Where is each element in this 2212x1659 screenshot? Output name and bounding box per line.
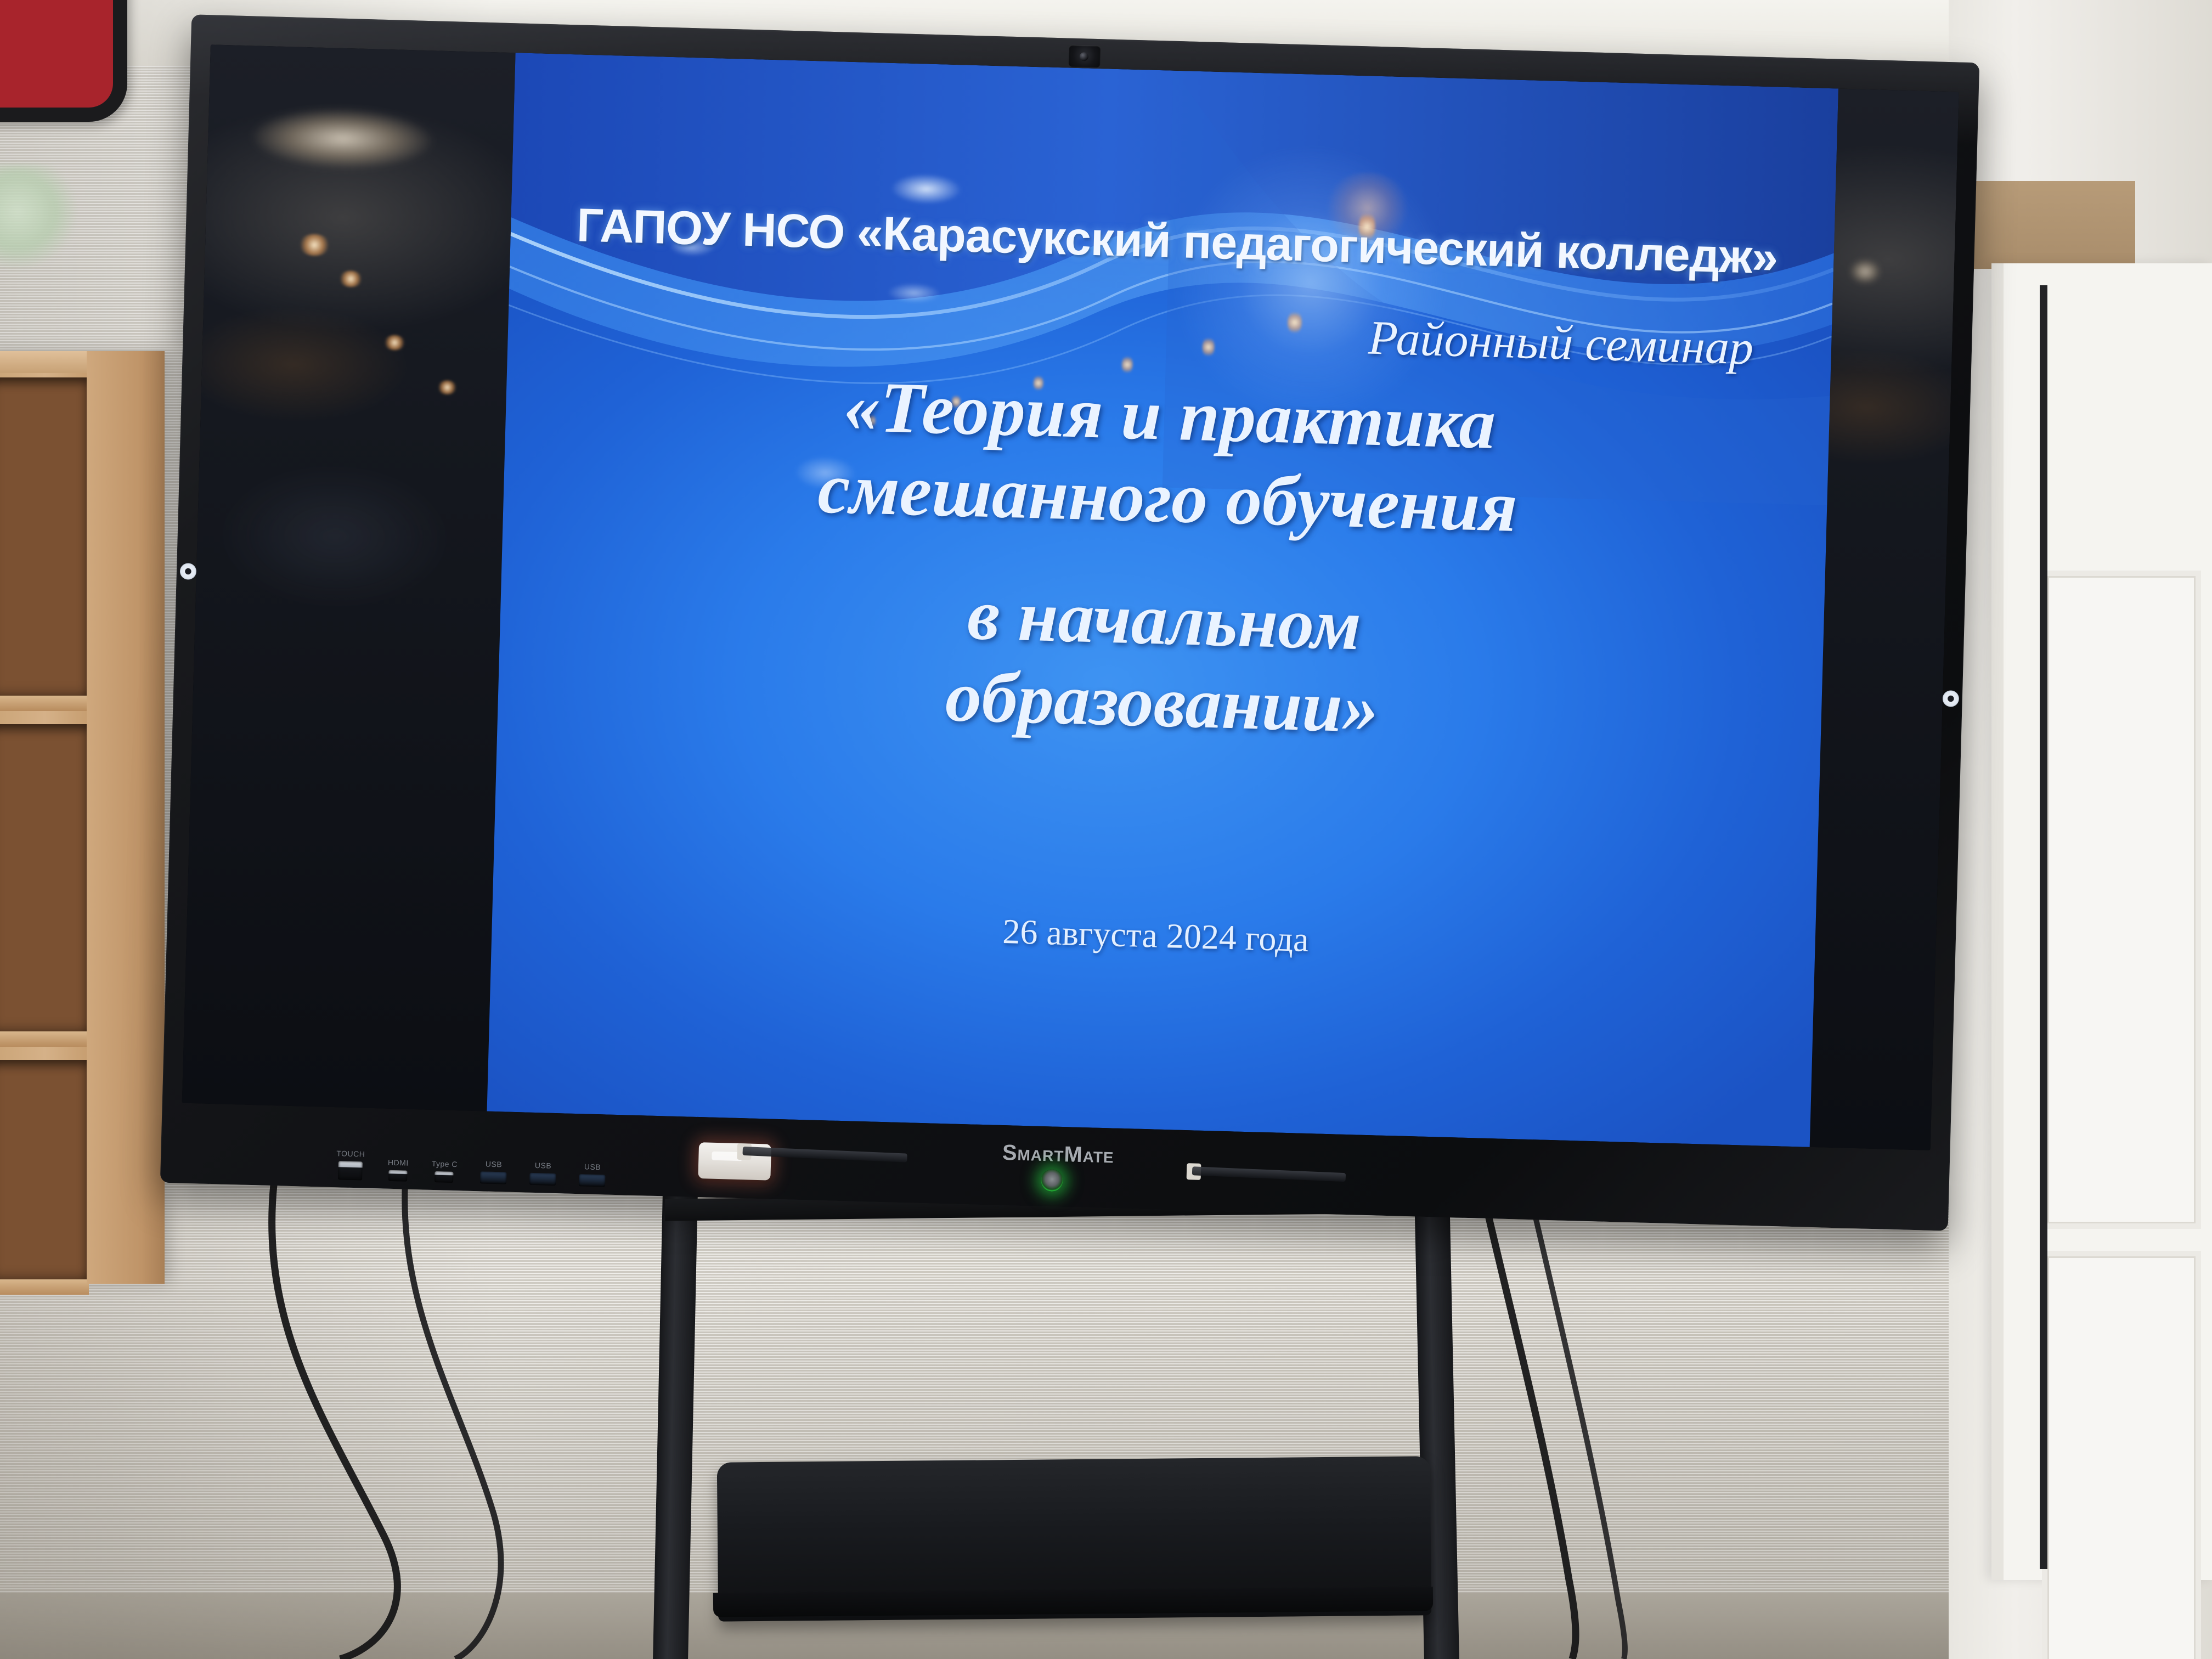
door-lower-panel	[2042, 1251, 2201, 1659]
bookshelf-shelf-edge	[0, 696, 89, 711]
port-label: TOUCH	[336, 1149, 365, 1158]
red-wall-sign	[0, 0, 127, 122]
light-glint	[338, 270, 363, 287]
light-glint	[298, 234, 331, 257]
usb-c-icon	[435, 1171, 454, 1183]
panel-sheen	[217, 462, 452, 611]
port-label: Type C	[432, 1159, 458, 1169]
usb-a-icon	[529, 1173, 556, 1186]
bookshelf-shelf-edge	[0, 1031, 89, 1047]
bookshelf-cavity	[0, 377, 87, 696]
ceiling-light-reflection	[251, 106, 434, 171]
slide-date: 26 августа 2024 года	[557, 899, 1754, 972]
interactive-flat-panel-display[interactable]: ГАПОУ НСО «Карасукский педагогический ко…	[160, 14, 1979, 1231]
plant-foliage	[0, 165, 77, 269]
port-strip[interactable]: TOUCH HDMI Type C USB USB USB	[336, 1127, 743, 1190]
bookshelf-side-panel	[87, 351, 165, 1284]
usb-a-icon	[480, 1171, 507, 1184]
presentation-slide: ГАПОУ НСО «Карасукский педагогический ко…	[487, 53, 1838, 1147]
wooden-bookshelf	[0, 351, 165, 1284]
port-usb-3[interactable]: USB	[579, 1162, 606, 1187]
white-door[interactable]	[1991, 263, 2212, 1580]
port-label: USB	[535, 1161, 552, 1170]
port-hdmi[interactable]: HDMI	[387, 1158, 409, 1182]
bookshelf-cavity	[0, 724, 87, 1031]
port-touch[interactable]: TOUCH	[336, 1149, 365, 1180]
bookshelf-shelf-edge	[0, 1279, 89, 1295]
bookshelf-cavity	[0, 1060, 87, 1279]
ceiling-light-reflection	[1849, 259, 1881, 284]
display-panel[interactable]: ГАПОУ НСО «Карасукский педагогический ко…	[182, 44, 1959, 1150]
port-label: USB	[486, 1160, 503, 1169]
camera-icon	[1068, 45, 1101, 68]
usb-b-icon	[338, 1161, 363, 1180]
light-glint	[437, 380, 458, 395]
port-usb-1[interactable]: USB	[480, 1159, 507, 1184]
port-label: HDMI	[388, 1158, 409, 1167]
light-glint	[383, 335, 406, 351]
door-upper-panel	[2042, 571, 2201, 1229]
door-edge-gap	[2040, 285, 2047, 1569]
hdmi-icon	[388, 1170, 408, 1182]
port-label: USB	[584, 1162, 601, 1171]
door-transom-gap	[1949, 181, 2135, 269]
slide-title-block: Районный семинар «Теория и практика смеш…	[563, 290, 1771, 759]
classroom-scene: ГАПОУ НСО «Карасукский педагогический ко…	[0, 0, 2212, 1659]
letterbox-left	[182, 44, 516, 1111]
port-type-c[interactable]: Type C	[431, 1159, 458, 1183]
usb-a-icon	[579, 1174, 606, 1187]
port-usb-2[interactable]: USB	[529, 1161, 556, 1186]
